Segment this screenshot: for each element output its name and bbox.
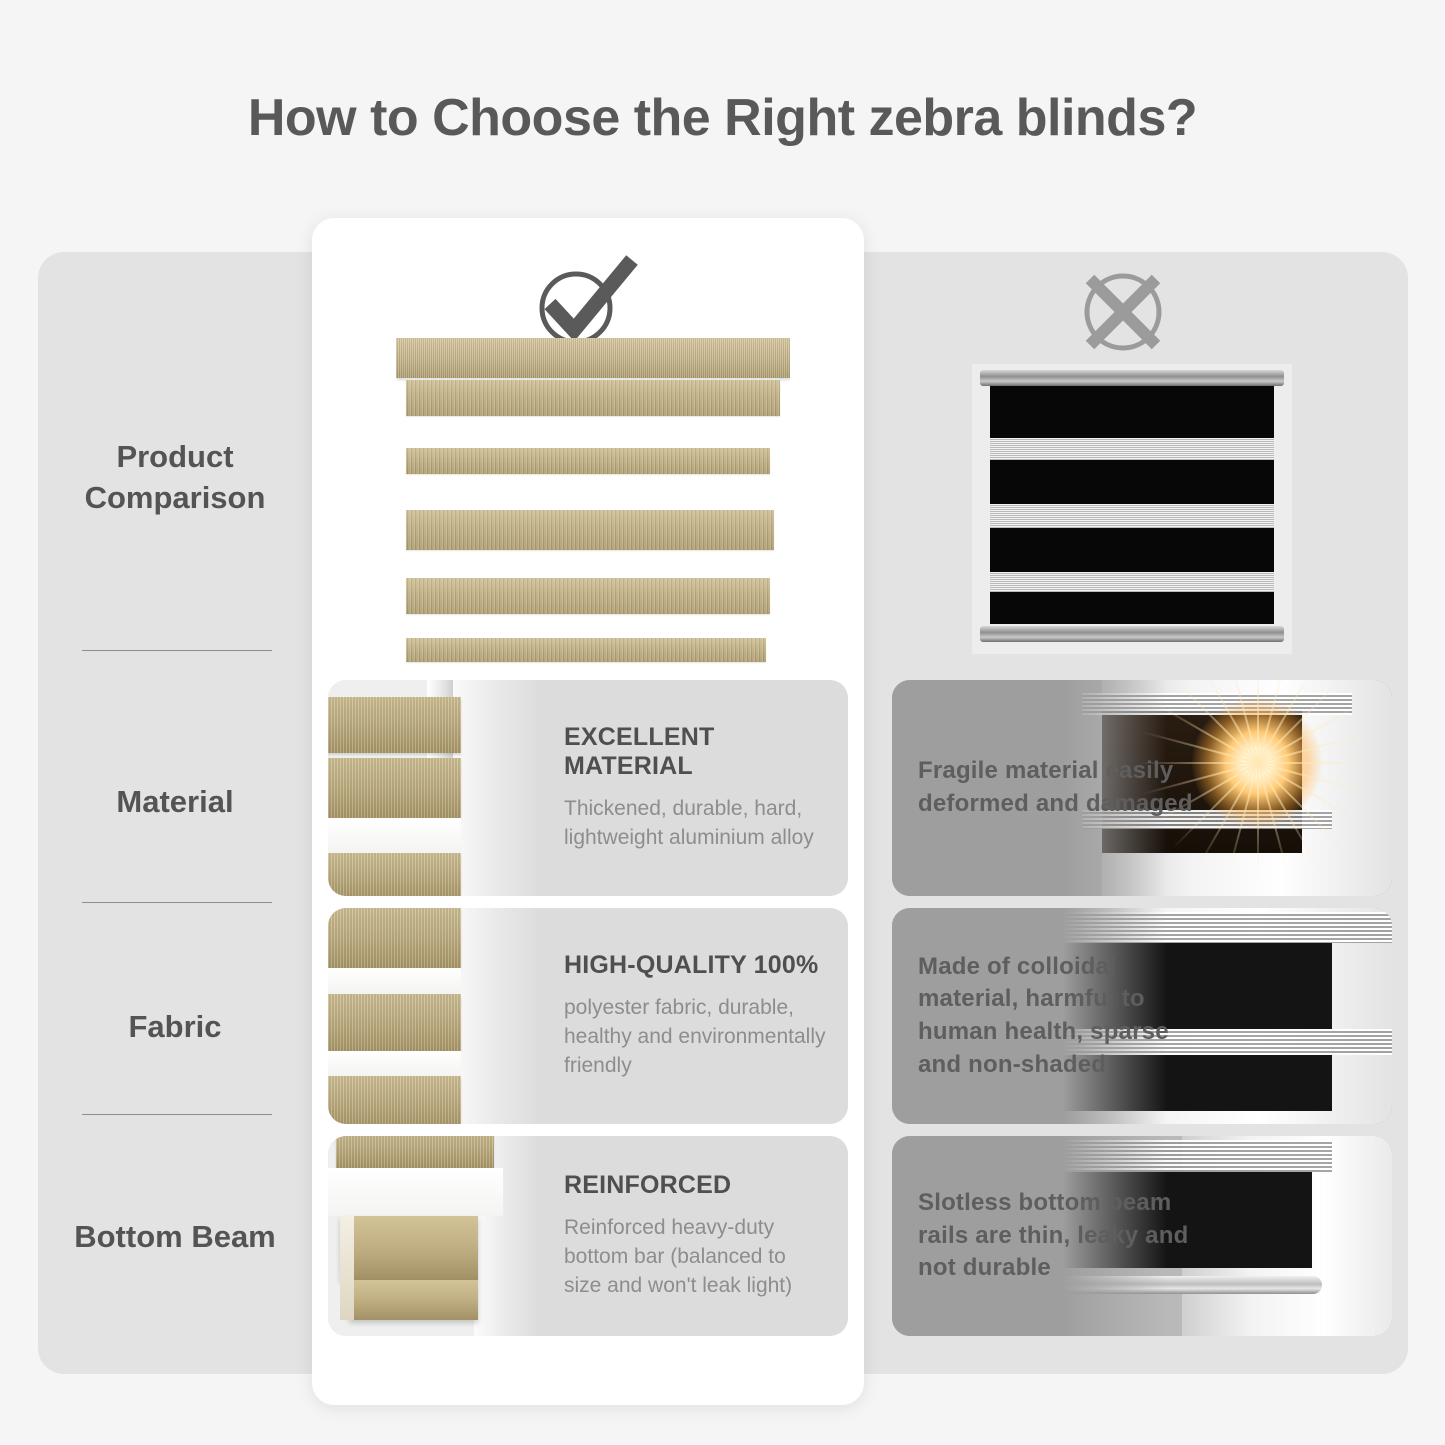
bad-hero-image <box>972 364 1292 654</box>
criteria-label-bottom-beam: Bottom Beam <box>38 1172 312 1302</box>
good-card-material-body: Thickened, durable, hard, lightweight al… <box>564 795 828 853</box>
bad-card-fabric: Made of colloidal material, harmful to h… <box>892 908 1392 1124</box>
bad-hero-band <box>990 504 1274 528</box>
good-card-bottom-beam-heading: REINFORCED <box>564 1171 828 1200</box>
criteria-label-column: Product Comparison Material Fabric Botto… <box>38 252 312 1374</box>
bad-card-bottom-beam-heading: Slotless bottom beam rails are thin, lea… <box>918 1187 1202 1285</box>
bad-card-bottom-beam: Slotless bottom beam rails are thin, lea… <box>892 1136 1392 1336</box>
bad-card-material-text: Fragile material easily deformed and dam… <box>892 680 1392 896</box>
bad-card-bottom-beam-text: Slotless bottom beam rails are thin, lea… <box>892 1136 1392 1336</box>
good-card-material: EXCELLENT MATERIAL Thickened, durable, h… <box>328 680 848 896</box>
good-card-bottom-beam-image <box>328 1136 536 1336</box>
check-circle-icon <box>528 252 638 352</box>
good-card-bottom-beam: REINFORCED Reinforced heavy-duty bottom … <box>328 1136 848 1336</box>
bad-card-material-heading: Fragile material easily deformed and dam… <box>918 755 1202 820</box>
good-hero-image <box>396 338 790 668</box>
good-hero-slat <box>406 510 774 550</box>
bad-hero-band <box>990 592 1274 624</box>
infographic-page: How to Choose the Right zebra blinds? Pr… <box>0 0 1445 1445</box>
good-hero-headrail <box>396 338 790 378</box>
bad-hero-band <box>990 386 1274 438</box>
criteria-label-material: Material <box>38 752 312 852</box>
good-hero-slat <box>406 380 780 416</box>
criteria-label-fabric: Fabric <box>38 977 312 1077</box>
good-card-fabric-body: polyester fabric, durable, healthy and e… <box>564 994 828 1081</box>
good-hero-bottom-bar <box>406 638 766 662</box>
good-hero-slat <box>406 578 770 614</box>
good-card-fabric-heading: HIGH-QUALITY 100% <box>564 951 828 980</box>
criteria-divider-2 <box>82 902 272 903</box>
bad-hero-band <box>990 572 1274 592</box>
bad-card-fabric-text: Made of colloidal material, harmful to h… <box>892 908 1392 1124</box>
criteria-label-product-comparison: Product Comparison <box>38 412 312 542</box>
bad-card-material: Fragile material easily deformed and dam… <box>892 680 1392 896</box>
bad-hero-bottom-rail <box>980 626 1284 642</box>
bad-hero-headrail <box>980 370 1284 386</box>
good-card-bottom-beam-body: Reinforced heavy-duty bottom bar (balanc… <box>564 1214 828 1301</box>
cross-circle-icon <box>1070 262 1176 362</box>
good-card-fabric-image <box>328 908 536 1124</box>
good-card-fabric-text: HIGH-QUALITY 100% polyester fabric, dura… <box>536 908 848 1124</box>
bad-hero-band <box>990 460 1274 504</box>
good-hero-slat <box>406 448 770 474</box>
bad-card-fabric-heading: Made of colloidal material, harmful to h… <box>918 951 1202 1082</box>
good-card-material-heading: EXCELLENT MATERIAL <box>564 723 828 781</box>
bad-hero-band <box>990 438 1274 460</box>
good-card-fabric: HIGH-QUALITY 100% polyester fabric, dura… <box>328 908 848 1124</box>
bad-hero-band <box>990 528 1274 572</box>
criteria-divider-1 <box>82 650 272 651</box>
criteria-divider-3 <box>82 1114 272 1115</box>
good-card-material-text: EXCELLENT MATERIAL Thickened, durable, h… <box>536 680 848 896</box>
good-card-material-image <box>328 680 536 896</box>
good-card-bottom-beam-text: REINFORCED Reinforced heavy-duty bottom … <box>536 1136 848 1336</box>
page-title: How to Choose the Right zebra blinds? <box>0 88 1445 148</box>
